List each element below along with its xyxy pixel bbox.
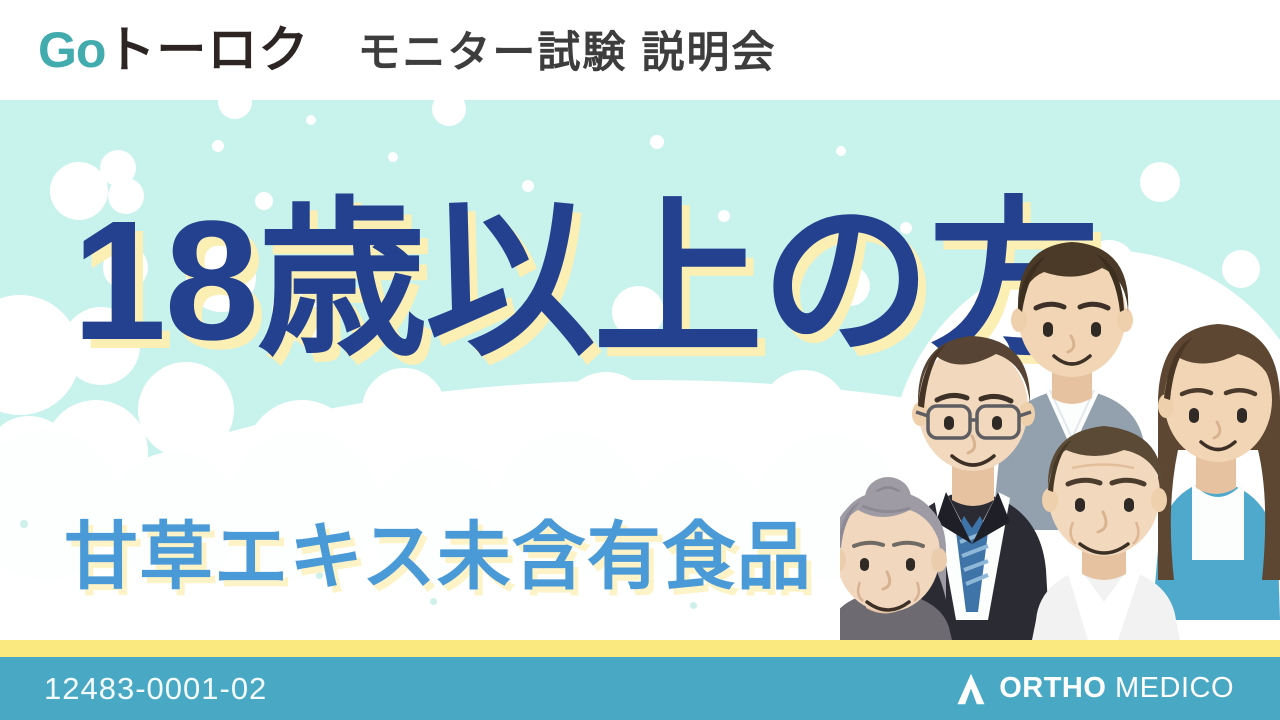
person-woman-long-hair xyxy=(1152,324,1280,620)
bubble-decoration xyxy=(432,100,466,126)
person-older-man xyxy=(1032,426,1180,640)
bubble-decoration xyxy=(212,140,224,152)
footer-accent-bar xyxy=(0,640,1280,657)
bubble-decoration xyxy=(388,152,398,162)
bubble-decoration xyxy=(306,115,316,125)
bubble-decoration xyxy=(430,598,437,605)
subheadline-text: 甘草エキス未含有食品 xyxy=(64,520,812,594)
logo-ortho-text: ORTHO xyxy=(999,672,1106,704)
brand-go-text: Go xyxy=(38,22,105,78)
logo-medico-text: MEDICO xyxy=(1115,672,1234,704)
header-subtitle: モニター試験 説明会 xyxy=(357,32,776,75)
person-mark-icon xyxy=(953,671,989,707)
bubble-decoration xyxy=(650,135,664,149)
group-of-people-illustration xyxy=(840,150,1280,640)
logo-wordmark: ORTHO MEDICO xyxy=(999,674,1234,703)
brand-logo: Goトーロク xyxy=(38,25,309,75)
bubble-decoration xyxy=(690,602,697,609)
brand-torokku-text: トーロク xyxy=(105,22,309,78)
document-id: 12483-0001-02 xyxy=(0,673,267,704)
presentation-slide: Goトーロク モニター試験 説明会 xyxy=(0,0,1280,720)
bubble-decoration xyxy=(20,520,28,528)
slide-footer: 12483-0001-02 ORTHO MEDICO xyxy=(0,657,1280,720)
bubble-decoration xyxy=(218,100,252,119)
ortho-medico-logo: ORTHO MEDICO xyxy=(953,671,1280,707)
slide-header: Goトーロク モニター試験 説明会 xyxy=(0,0,1280,100)
header-inner: Goトーロク モニター試験 説明会 xyxy=(0,25,776,75)
